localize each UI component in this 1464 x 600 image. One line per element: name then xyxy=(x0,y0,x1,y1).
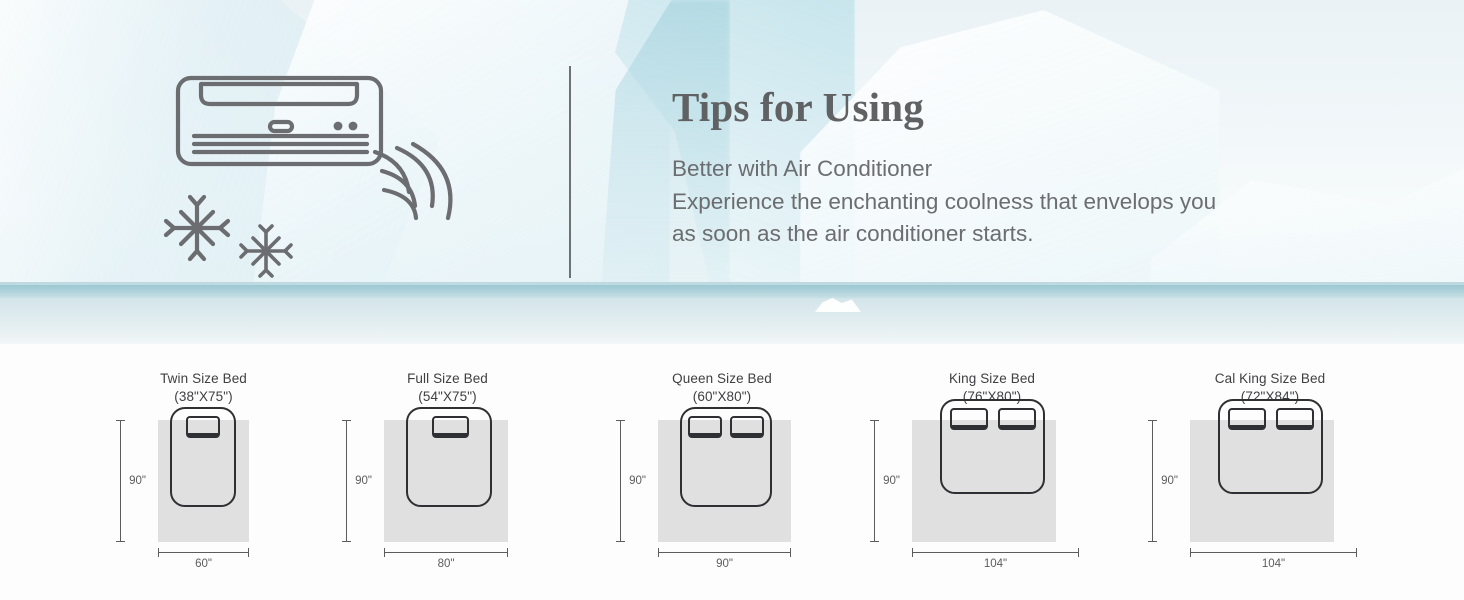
width-dimension-king: 104" xyxy=(912,548,1079,572)
dimension-line xyxy=(1190,552,1357,553)
dimension-cap-right xyxy=(1078,548,1079,557)
dimension-cap-bottom xyxy=(342,541,351,542)
air-conditioner-icon xyxy=(160,66,490,296)
vertical-divider xyxy=(569,66,571,278)
dimension-cap-bottom xyxy=(870,541,879,542)
hero-subtitle-line-3: as soon as the air conditioner starts. xyxy=(672,218,1372,250)
dimension-cap-bottom xyxy=(1148,541,1157,542)
pillow xyxy=(688,416,722,438)
dimension-line xyxy=(346,420,347,542)
hero-subtitle: Better with Air Conditioner Experience t… xyxy=(672,153,1372,250)
pillow xyxy=(1228,408,1266,430)
dimension-line xyxy=(658,552,791,553)
width-dimension-cal-king: 104" xyxy=(1190,548,1357,572)
snowflake-icon xyxy=(166,197,228,259)
air-conditioner-illustration xyxy=(160,66,490,296)
height-dimension-king: 90" xyxy=(870,420,912,542)
bed-card-twin: Twin Size Bed (38"X75") 90" 60" xyxy=(96,344,311,600)
bed-diagram-cal-king: 90" 104" xyxy=(1160,344,1380,600)
dimension-cap-right xyxy=(507,548,508,557)
pillow xyxy=(1276,408,1314,430)
page-title: Tips for Using xyxy=(672,84,1372,131)
hero-subtitle-line-2: Experience the enchanting coolness that … xyxy=(672,186,1372,218)
bed-card-full: Full Size Bed (54"X75") 90" 80" xyxy=(340,344,555,600)
height-label: 90" xyxy=(883,475,900,487)
dimension-line xyxy=(912,552,1079,553)
height-label: 90" xyxy=(129,475,146,487)
bed-card-queen: Queen Size Bed (60"X80") 90" xyxy=(612,344,832,600)
height-dimension-queen: 90" xyxy=(616,420,658,542)
hero-section: Tips for Using Better with Air Condition… xyxy=(0,0,1464,344)
indicator-dots-icon xyxy=(334,122,358,131)
dimension-line xyxy=(158,552,249,553)
dimension-cap-right xyxy=(1356,548,1357,557)
width-label: 80" xyxy=(438,558,455,570)
dimension-cap-right xyxy=(248,548,249,557)
width-label: 104" xyxy=(1262,558,1285,570)
pillow xyxy=(950,408,988,430)
width-dimension-full: 80" xyxy=(384,548,508,572)
height-label: 90" xyxy=(629,475,646,487)
dimension-cap-bottom xyxy=(616,541,625,542)
pillow xyxy=(186,416,220,438)
pillow xyxy=(730,416,764,438)
width-label: 104" xyxy=(984,558,1007,570)
bed-diagram-queen: 90" 90" xyxy=(612,344,832,600)
dimension-line xyxy=(1152,420,1153,542)
dimension-line xyxy=(384,552,508,553)
dimension-line xyxy=(620,420,621,542)
bed-diagram-king: 90" 104" xyxy=(882,344,1102,600)
width-dimension-queen: 90" xyxy=(658,548,791,572)
width-label: 90" xyxy=(716,558,733,570)
snowflake-icon xyxy=(241,226,291,276)
dimension-cap-bottom xyxy=(116,541,125,542)
bed-diagram-twin: 90" 60" xyxy=(96,344,311,600)
bed-card-cal-king: Cal King Size Bed (72"X84") 90" xyxy=(1160,344,1380,600)
height-label: 90" xyxy=(1161,475,1178,487)
dimension-line xyxy=(120,420,121,542)
height-dimension-full: 90" xyxy=(342,420,384,542)
infographic-page: Tips for Using Better with Air Condition… xyxy=(0,0,1464,600)
bed-card-king: King Size Bed (76"X80") 90" 1 xyxy=(882,344,1102,600)
dimension-line xyxy=(874,420,875,542)
height-dimension-cal-king: 90" xyxy=(1148,420,1190,542)
height-dimension-twin: 90" xyxy=(116,420,158,542)
pillow xyxy=(998,408,1036,430)
width-label: 60" xyxy=(195,558,212,570)
hero-text-block: Tips for Using Better with Air Condition… xyxy=(672,84,1372,250)
hero-subtitle-line-1: Better with Air Conditioner xyxy=(672,153,1372,185)
dimension-cap-right xyxy=(790,548,791,557)
bed-size-chart: Twin Size Bed (38"X75") 90" 60" xyxy=(0,344,1464,600)
bed-diagram-full: 90" 80" xyxy=(340,344,555,600)
height-label: 90" xyxy=(355,475,372,487)
pillow xyxy=(432,416,469,438)
width-dimension-twin: 60" xyxy=(158,548,249,572)
